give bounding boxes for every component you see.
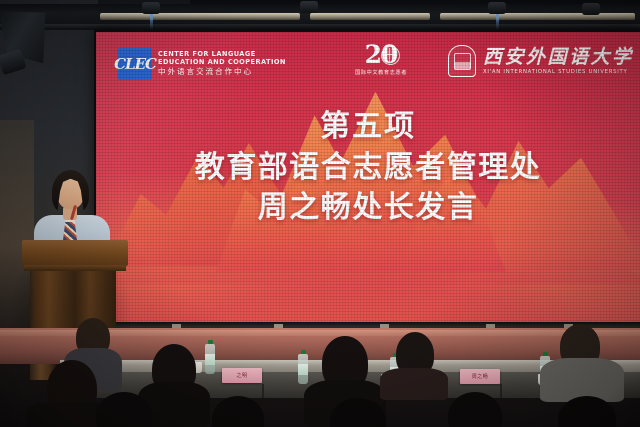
university-name-en: XI'AN INTERNATIONAL STUDIES UNIVERSITY (483, 68, 634, 76)
stage-light-icon (300, 1, 318, 13)
truss-bar (100, 13, 300, 20)
university-crest-inner (454, 53, 471, 70)
truss-bar (310, 13, 430, 20)
anniversary-logo: 20 国际中文教育志愿者 (344, 42, 418, 86)
podium (22, 240, 128, 342)
led-screen: CLEC CENTER FOR LANGUAGE EDUCATION AND C… (96, 32, 640, 324)
clec-logo-line-cn: 中外语言交流合作中心 (158, 67, 286, 77)
title-line-1: 第五项 (320, 108, 416, 146)
truss-strip (0, 24, 640, 29)
stage-light-beam (150, 14, 153, 30)
table-seam (262, 384, 264, 398)
clec-logo: CLEC CENTER FOR LANGUAGE EDUCATION AND C… (118, 48, 286, 80)
podium-top (22, 240, 128, 266)
title-line-2: 教育部语合志愿者管理处 (195, 148, 542, 188)
table-seam (500, 384, 502, 398)
stage-light-icon (142, 2, 160, 14)
title-line-3: 周之畅处长发言 (258, 188, 479, 228)
university-logo: 西安外国语大学 XI'AN INTERNATIONAL STUDIES UNIV… (448, 45, 634, 77)
clec-logo-mark: CLEC (118, 48, 152, 80)
audience-shoulders (380, 368, 448, 400)
stage-light-beam (496, 14, 499, 30)
truss-bar (440, 13, 635, 20)
university-crest-icon (448, 45, 476, 77)
stage-light-icon (488, 2, 506, 14)
name-placard-label: 周之畅 (472, 373, 489, 380)
anniversary-caption: 国际中文教育志愿者 (355, 69, 407, 76)
globe-icon (381, 46, 400, 65)
name-placard: 之明 (222, 368, 262, 383)
bottle-label (298, 364, 308, 375)
water-bottle (205, 340, 215, 374)
stage-light-icon (582, 3, 600, 15)
screen-logo-row: CLEC CENTER FOR LANGUAGE EDUCATION AND C… (96, 32, 640, 94)
bottle-label (205, 354, 215, 365)
clec-logo-line-en-2: EDUCATION AND COOPERATION (158, 59, 286, 67)
name-placard: 周之畅 (460, 369, 500, 384)
water-bottle (298, 350, 308, 384)
name-placard-label: 之明 (236, 372, 247, 379)
screenshot-root: CLEC CENTER FOR LANGUAGE EDUCATION AND C… (0, 0, 640, 427)
university-name-cn: 西安外国语大学 (483, 47, 634, 68)
screen-title-block: 第五项 教育部语合志愿者管理处 周之畅处长发言 (96, 108, 640, 228)
anniversary-number-label: 20 (365, 42, 398, 68)
